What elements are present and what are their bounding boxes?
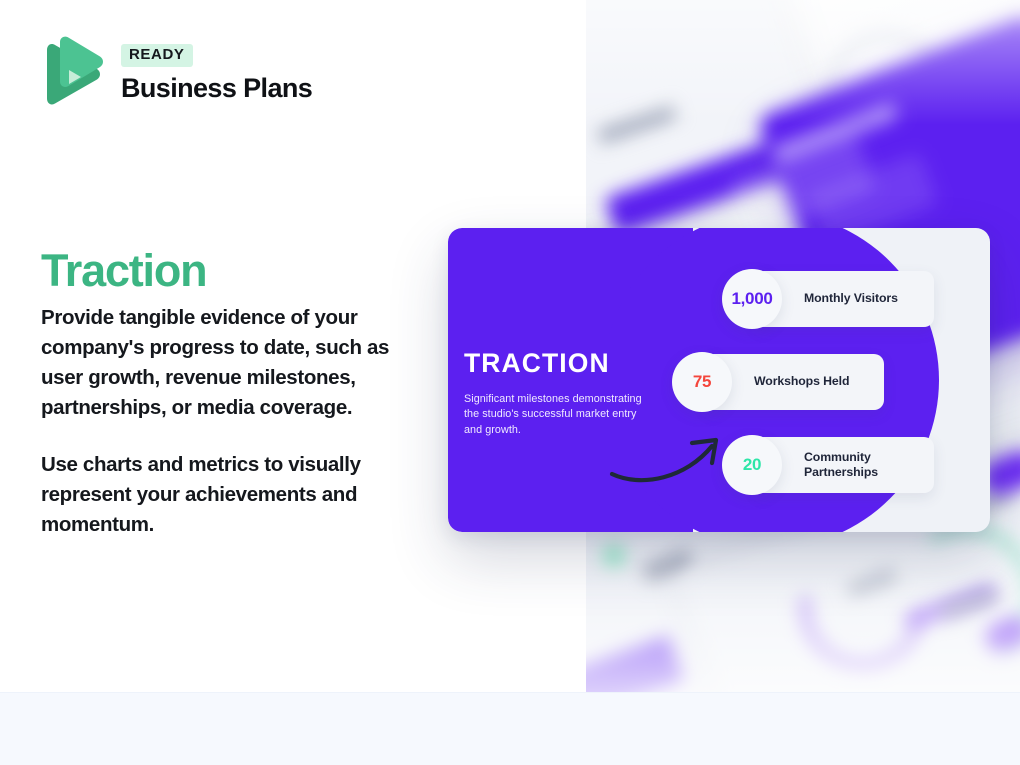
brand-lockup[interactable]: READY Business Plans: [41, 36, 312, 116]
metric-value: 1,000: [731, 289, 772, 309]
card-title: TRACTION: [464, 350, 610, 377]
metric-label: Workshops Held: [754, 354, 876, 410]
metric-label: Community Partnerships: [804, 437, 926, 493]
brand-text: READY Business Plans: [121, 36, 312, 103]
metric-row-workshops-held[interactable]: 75 Workshops Held: [672, 354, 884, 410]
traction-slide-preview-card[interactable]: TRACTION Significant milestones demonstr…: [448, 228, 990, 532]
body-copy: Provide tangible evidence of your compan…: [41, 303, 421, 540]
metric-row-community-partnerships[interactable]: 20 Community Partnerships: [722, 437, 934, 493]
body-paragraph-1: Provide tangible evidence of your compan…: [41, 303, 421, 424]
slide-canvas: READY Business Plans Traction Provide ta…: [0, 0, 1020, 765]
play-logo-icon: [41, 36, 104, 116]
ready-badge: READY: [121, 44, 193, 67]
backdrop-green-dot: [603, 545, 625, 567]
metric-label: Monthly Visitors: [804, 271, 926, 327]
body-paragraph-2: Use charts and metrics to visually repre…: [41, 450, 421, 540]
page-title: Traction: [41, 247, 206, 294]
metric-value-circle: 75: [672, 352, 732, 412]
metric-value: 75: [693, 372, 711, 392]
metric-value: 20: [743, 455, 761, 475]
bottom-band: [0, 692, 1020, 765]
metric-value-circle: 1,000: [722, 269, 782, 329]
curved-arrow-up-right-icon: [608, 418, 738, 488]
metric-row-monthly-visitors[interactable]: 1,000 Monthly Visitors: [722, 271, 934, 327]
brand-name: Business Plans: [121, 73, 312, 103]
